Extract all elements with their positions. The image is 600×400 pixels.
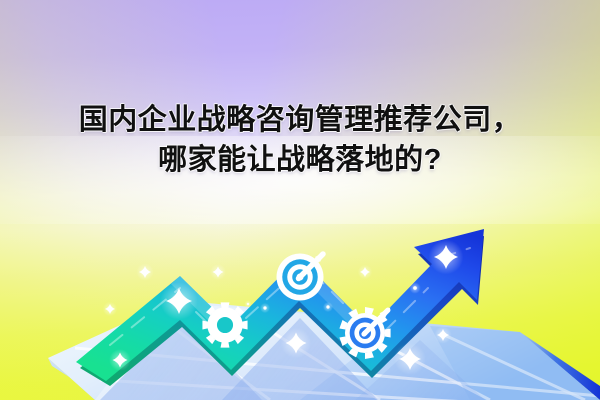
sparkle-star	[429, 240, 464, 275]
sparkle-star	[281, 328, 311, 358]
sparkle-star	[434, 326, 451, 343]
sparkle-dot	[409, 282, 421, 294]
sparkle-dot	[244, 300, 251, 307]
illustration-growth-arrow	[0, 0, 600, 400]
sparkle-star	[358, 265, 373, 280]
headline-line-2: 哪家能让战略落地的?	[0, 140, 600, 180]
poster-canvas: 国内企业战略咨询管理推荐公司， 哪家能让战略落地的?	[0, 0, 600, 400]
sparkle-star	[136, 263, 153, 280]
sparkle-star	[103, 302, 118, 317]
headline-line-1: 国内企业战略咨询管理推荐公司，	[0, 100, 600, 140]
gear-icon	[202, 302, 247, 347]
sparkle-star	[109, 349, 131, 371]
headline-block: 国内企业战略咨询管理推荐公司， 哪家能让战略落地的?	[0, 100, 600, 180]
sparkle-dot	[260, 303, 270, 313]
sparkle-star	[160, 282, 198, 320]
sparkle-star	[210, 264, 226, 280]
sparkle-dot	[323, 302, 333, 312]
sparkle-star	[394, 343, 426, 375]
